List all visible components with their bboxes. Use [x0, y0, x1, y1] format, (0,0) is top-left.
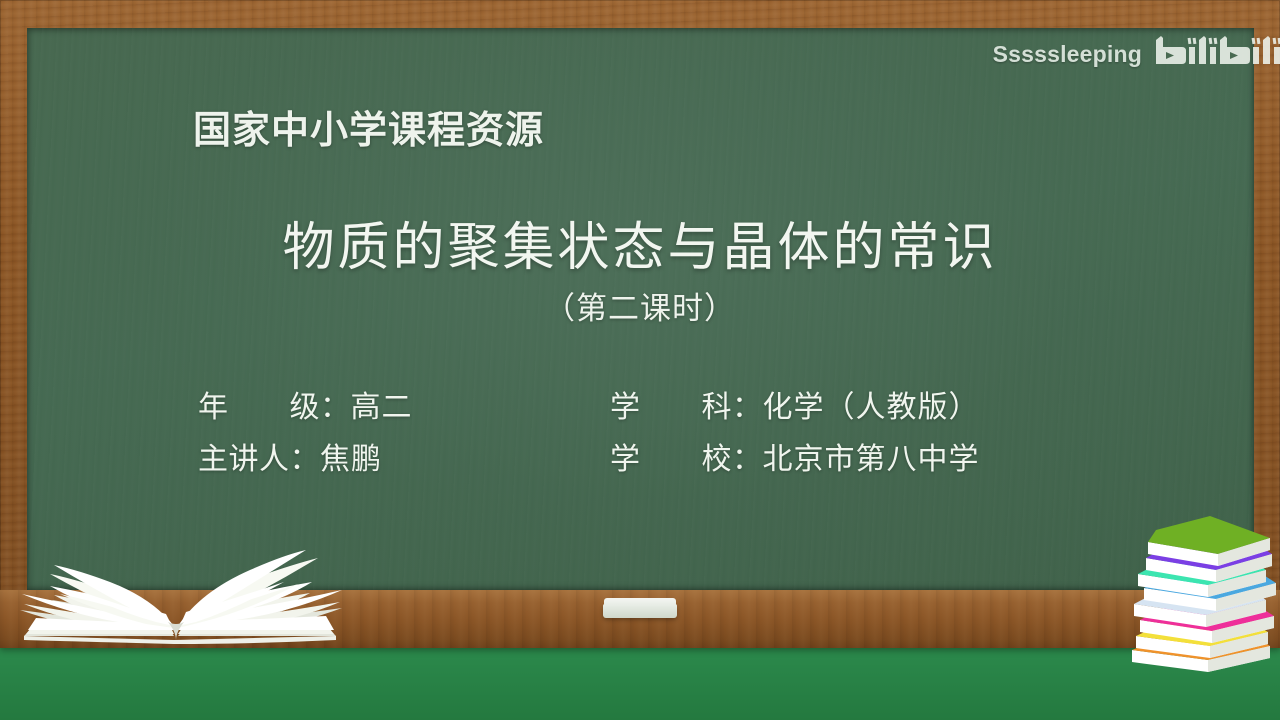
video-title-card: Sssssleeping: [0, 0, 1280, 720]
metadata-subject: 学 科： 化学（人教版）: [610, 382, 980, 426]
lecturer-value: 焦鹏: [320, 434, 382, 478]
grade-value: 高二: [351, 382, 413, 426]
lesson-title: 物质的聚集状态与晶体的常识: [0, 205, 1280, 280]
lesson-period: （第二课时）: [0, 283, 1280, 328]
lecturer-label: 主讲人：: [198, 434, 320, 478]
school-value: 北京市第八中学: [763, 434, 980, 478]
lesson-metadata: 年 级： 高二 学 科： 化学（人教版） 主讲人： 焦鹏 学 校： 北京市第八中…: [198, 378, 1078, 482]
school-label: 学 校：: [610, 434, 763, 478]
eraser-top: [604, 598, 676, 606]
metadata-grade: 年 级： 高二: [198, 382, 610, 426]
chalkboard-eraser-icon: [603, 598, 677, 618]
open-book-icon: [6, 540, 346, 648]
subject-label: 学 科：: [610, 382, 763, 426]
eraser-body: [603, 604, 677, 618]
subject-value: 化学（人教版）: [763, 382, 980, 426]
watermark: Sssssleeping: [993, 34, 1280, 74]
metadata-lecturer: 主讲人： 焦鹏: [198, 434, 610, 478]
lower-wall-band: [0, 640, 1280, 720]
metadata-row: 主讲人： 焦鹏 学 校： 北京市第八中学: [198, 430, 1078, 482]
metadata-school: 学 校： 北京市第八中学: [610, 434, 980, 478]
watermark-username: Sssssleeping: [993, 41, 1142, 68]
grade-label: 年 级：: [198, 382, 351, 426]
metadata-row: 年 级： 高二 学 科： 化学（人教版）: [198, 378, 1078, 430]
bilibili-logo-icon: [1152, 34, 1280, 74]
stacked-books-icon: [1118, 500, 1280, 672]
organization-title: 国家中小学课程资源: [193, 99, 544, 154]
